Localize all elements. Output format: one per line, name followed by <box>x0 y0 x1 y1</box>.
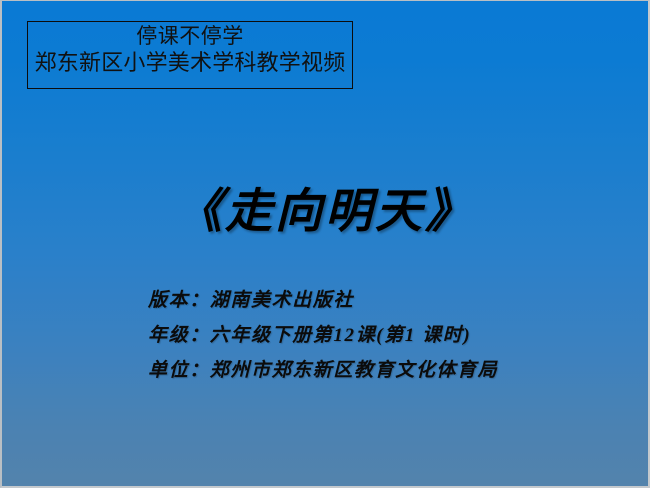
header-banner-line-2: 郑东新区小学美术学科教学视频 <box>28 47 352 74</box>
slide-main-title: 《走向明天》 <box>2 187 648 239</box>
meta-line-edition: 版本：湖南美术出版社 <box>148 283 608 318</box>
slide-meta-block: 版本：湖南美术出版社 年级：六年级下册第12课(第1 课时) 单位：郑州市郑东新… <box>148 283 608 388</box>
header-banner-box: 停课不停学 郑东新区小学美术学科教学视频 <box>27 21 353 89</box>
presentation-slide: 停课不停学 郑东新区小学美术学科教学视频 《走向明天》 版本：湖南美术出版社 年… <box>0 0 650 488</box>
meta-line-organization: 单位：郑州市郑东新区教育文化体育局 <box>148 353 608 388</box>
meta-line-grade: 年级：六年级下册第12课(第1 课时) <box>148 318 608 353</box>
header-banner-line-1: 停课不停学 <box>28 24 352 47</box>
